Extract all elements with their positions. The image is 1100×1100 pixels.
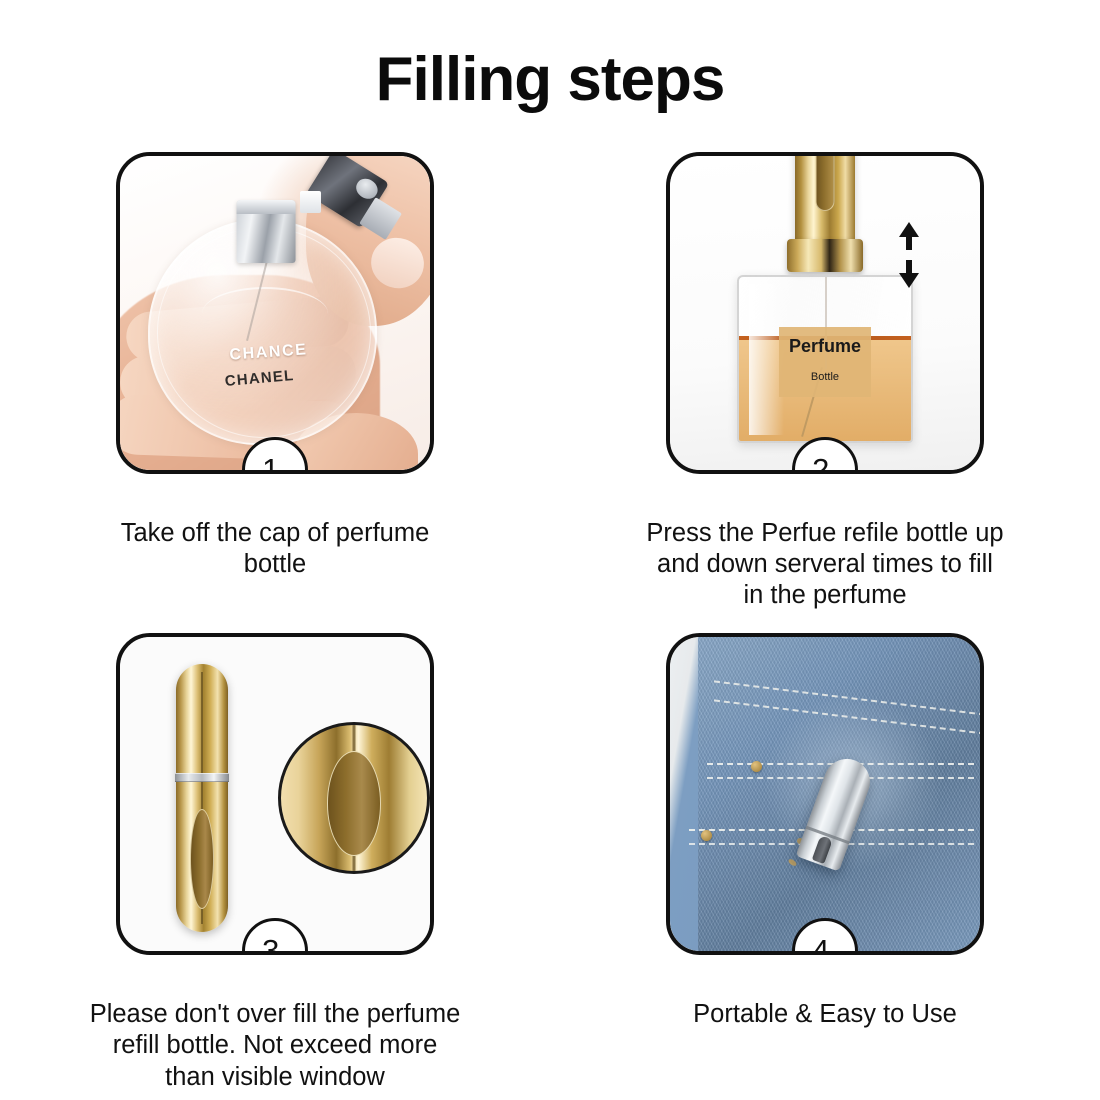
- step-caption-1: Take off the cap of perfume bottle: [75, 518, 475, 580]
- step-image-3: [120, 637, 430, 951]
- step-card-2: Perfume Bottle 2. Press the Perfue refil…: [550, 152, 1100, 611]
- infographic-page: Filling steps: [0, 0, 1100, 1100]
- atomizer-window: [816, 156, 835, 211]
- denim-rivet: [751, 761, 762, 772]
- step-image-panel-4: 4.: [666, 633, 984, 955]
- step-card-3: 3. Please don't over fill the perfume re…: [0, 633, 550, 1092]
- atomizer-collar: [787, 239, 863, 272]
- magnified-window-view: [278, 722, 430, 874]
- bottle-label-subtitle: Bottle: [811, 371, 839, 383]
- step-caption-2: Press the Perfue refile bottle up and do…: [610, 518, 1040, 611]
- page-title: Filling steps: [0, 44, 1100, 115]
- gold-refill-bottle: [176, 664, 228, 932]
- step-image-2: Perfume Bottle: [670, 156, 980, 470]
- step-image-1: CHANCE CHANEL: [120, 156, 430, 470]
- steps-grid: CHANCE CHANEL 1. Take off the cap of per…: [0, 152, 1100, 1093]
- step-caption-4: Portable & Easy to Use: [610, 999, 1040, 1030]
- square-perfume-bottle: Perfume Bottle: [737, 275, 913, 443]
- step-image-4: [670, 637, 980, 951]
- step-caption-3: Please don't over fill the perfume refil…: [60, 999, 490, 1092]
- silver-ring: [175, 773, 229, 782]
- atomizer-window: [811, 835, 832, 864]
- step-card-4: 4. Portable & Easy to Use: [550, 633, 1100, 1092]
- up-down-arrow-icon: [898, 222, 920, 288]
- step-image-panel-3: 3.: [116, 633, 434, 955]
- bottle-neck-collar: [236, 200, 295, 263]
- spray-nozzle-icon: [300, 191, 322, 213]
- bottle-label-title: Perfume: [789, 336, 861, 357]
- magnified-fill-window: [327, 751, 381, 856]
- step-image-panel-2: Perfume Bottle 2.: [666, 152, 984, 474]
- bottle-label: Perfume Bottle: [779, 327, 871, 397]
- visible-fill-window: [190, 809, 214, 909]
- step-image-panel-1: CHANCE CHANEL 1.: [116, 152, 434, 474]
- step-card-1: CHANCE CHANEL 1. Take off the cap of per…: [0, 152, 550, 611]
